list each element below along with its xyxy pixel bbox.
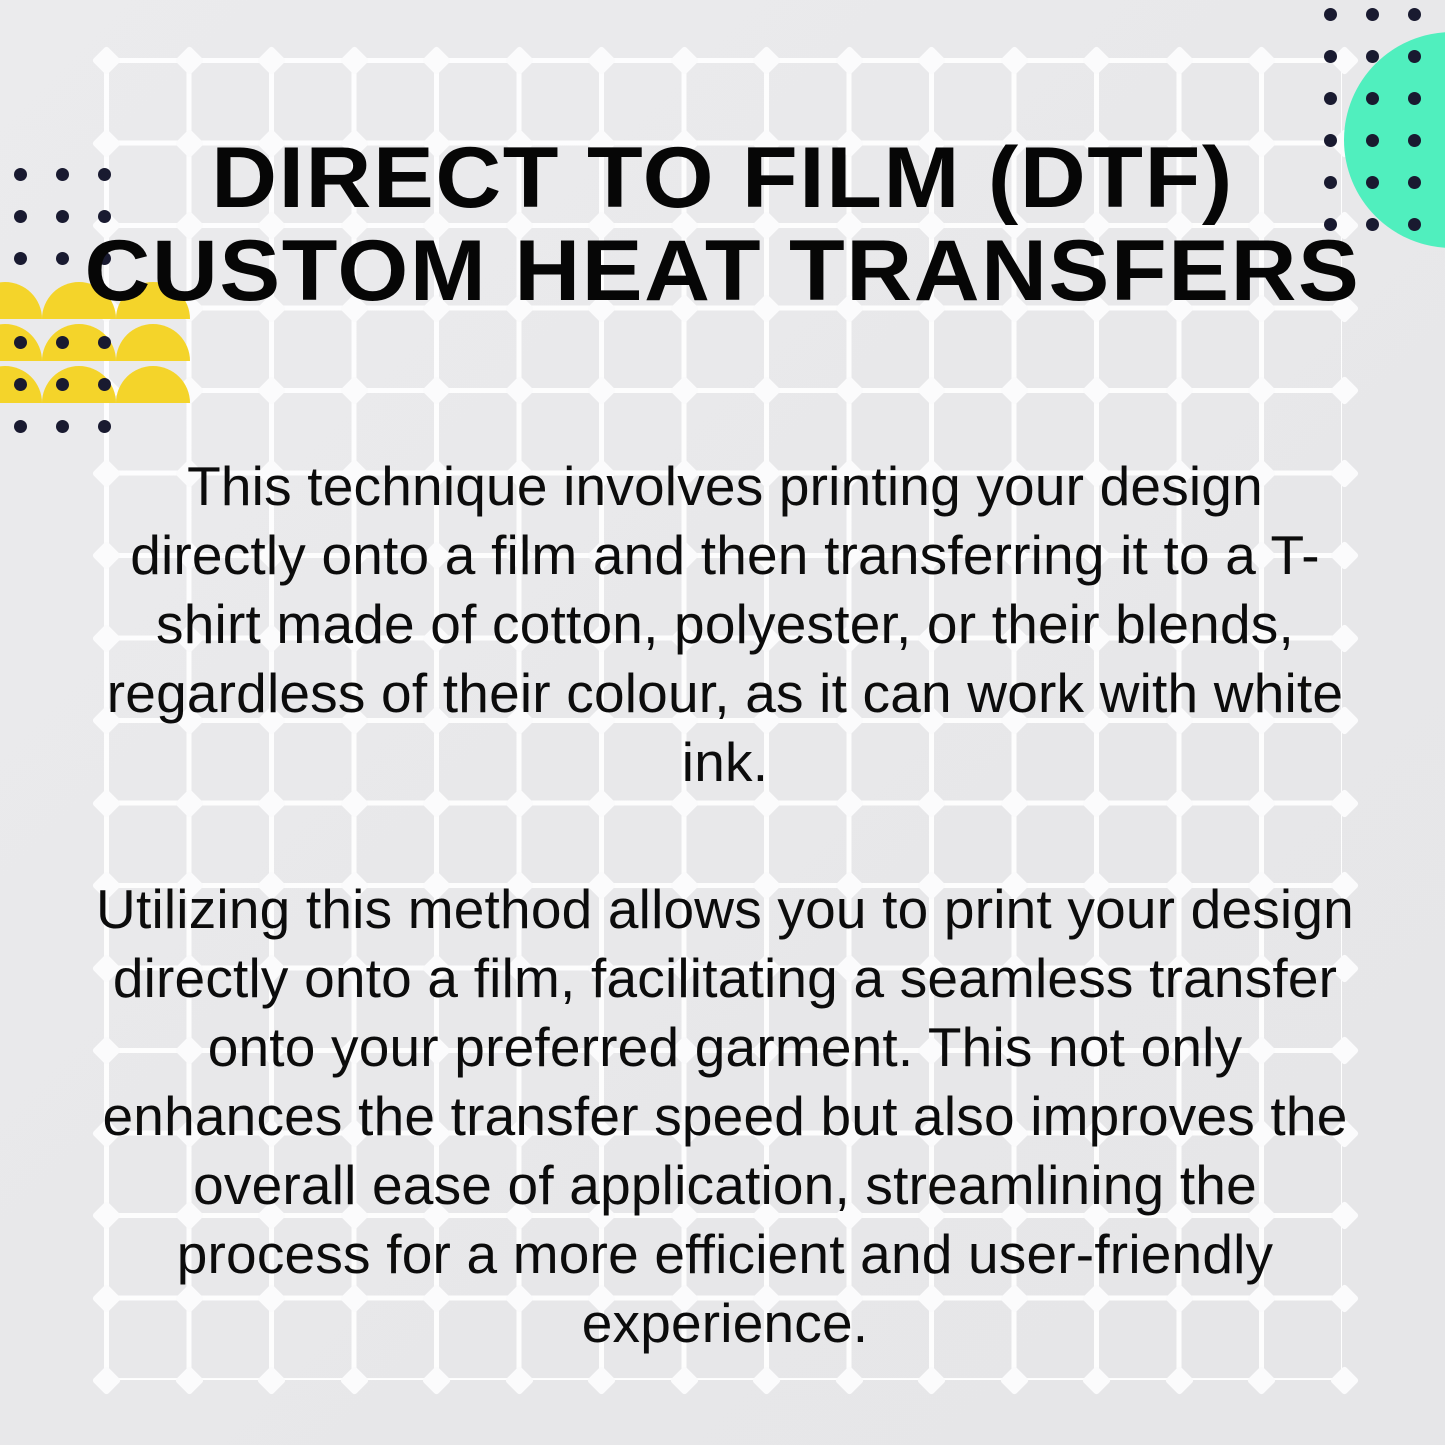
- poster-canvas: DIRECT TO FILM (DTF) CUSTOM HEAT TRANSFE…: [0, 0, 1445, 1445]
- page-title: DIRECT TO FILM (DTF) CUSTOM HEAT TRANSFE…: [120, 132, 1325, 318]
- paragraph-2: Utilizing this method allows you to prin…: [95, 875, 1355, 1358]
- title-line-2: CUSTOM HEAT TRANSFERS: [84, 225, 1361, 318]
- poster-content: DIRECT TO FILM (DTF) CUSTOM HEAT TRANSFE…: [0, 0, 1445, 1445]
- paragraph-1: This technique involves printing your de…: [95, 452, 1355, 797]
- body-copy: This technique involves printing your de…: [95, 452, 1355, 1358]
- title-line-1: DIRECT TO FILM (DTF): [84, 132, 1361, 225]
